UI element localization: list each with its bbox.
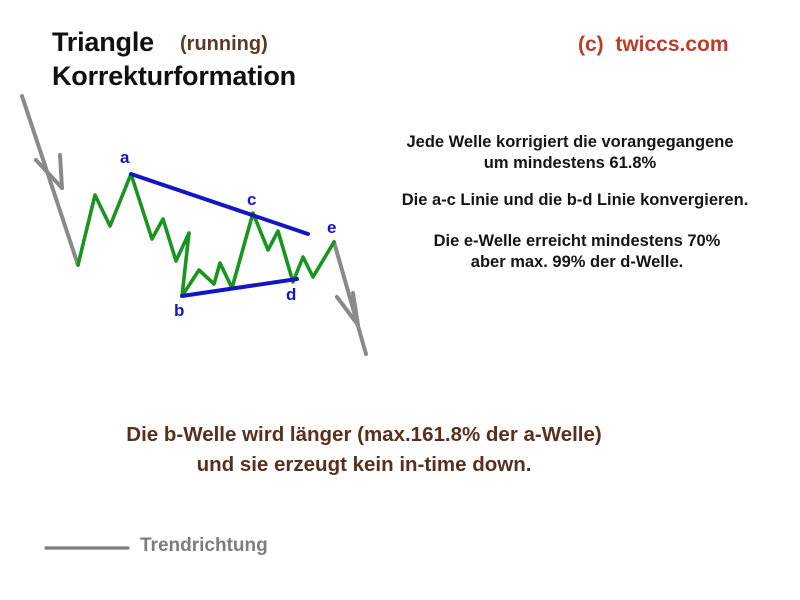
annotation-convergence-rule: Die a-c Linie und die b-d Linie konvergi… bbox=[355, 190, 795, 211]
page-title: Triangle bbox=[52, 26, 154, 60]
pivot-label-c: c bbox=[247, 190, 256, 210]
pivot-label-b: b bbox=[174, 301, 184, 321]
legend-label-trend-direction: Trendrichtung bbox=[140, 534, 268, 558]
pivot-label-e: e bbox=[327, 218, 336, 238]
annotation-correction-rule: Jede Welle korrigiert die vorangegangene… bbox=[355, 132, 785, 173]
pivot-label-d: d bbox=[286, 285, 296, 305]
trendline-a-c bbox=[131, 174, 308, 234]
trend-arrow-upper-icon bbox=[22, 96, 78, 265]
page-subtitle: Korrekturformation bbox=[52, 60, 296, 94]
pivot-label-a: a bbox=[120, 148, 129, 168]
annotation-b-wave-rule: Die b-Welle wird länger (max.161.8% der … bbox=[14, 420, 714, 479]
annotation-e-wave-rule: Die e-Welle erreicht mindestens 70% aber… bbox=[362, 231, 792, 272]
trendline-b-d bbox=[182, 279, 297, 296]
diagram-page: Triangle (running) Korrekturformation (c… bbox=[0, 0, 800, 600]
page-title-qualifier: (running) bbox=[180, 32, 268, 57]
copyright-notice: (c) twiccs.com bbox=[578, 32, 729, 58]
